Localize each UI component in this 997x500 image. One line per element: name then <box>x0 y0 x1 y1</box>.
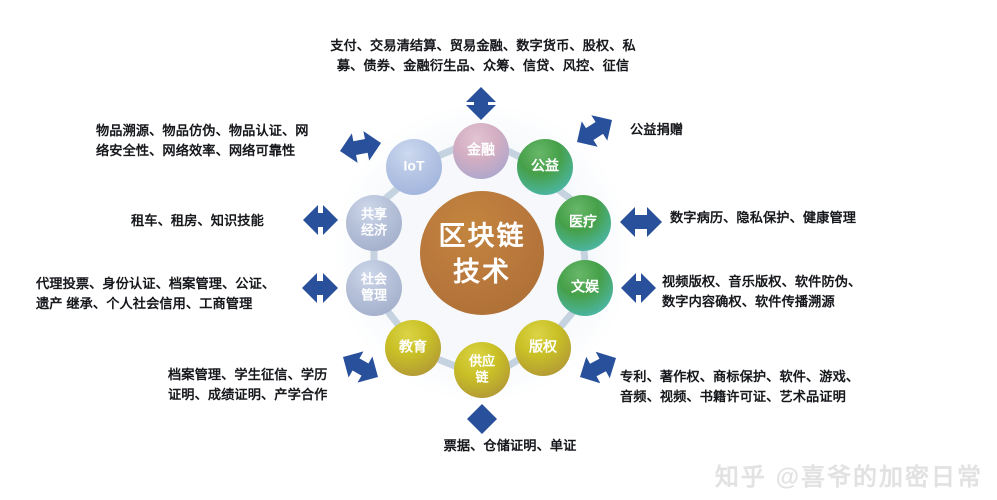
node-culture-entertainment[interactable]: 文娱 <box>557 260 613 316</box>
node-iot[interactable]: IoT <box>386 139 442 195</box>
arrow-supply-chain <box>467 404 497 434</box>
copyright-callout: 专利、著作权、商标保护、软件、游戏、 音频、视频、书籍许可证、艺术品证明 <box>620 367 920 407</box>
node-label-sharing-economy: 经济 <box>361 222 388 237</box>
node-label-supply-chain: 链 <box>474 369 489 384</box>
node-label-education: 教育 <box>399 339 427 355</box>
public-welfare-callout: 公益捐赠 <box>630 120 830 140</box>
node-label-public-welfare: 公益 <box>531 158 559 174</box>
center-node[interactable]: 区块链 技术 <box>420 191 544 315</box>
arrow-supply-chain-shape <box>467 404 497 434</box>
culture-entertainment-callout: 视频版权、音乐版权、软件防伪、 数字内容确权、软件传播溯源 <box>662 272 952 312</box>
node-label-supply-chain: 供应 <box>468 353 495 368</box>
social-governance-callout: 代理投票、身份认证、档案管理、公证、 遗产 继承、个人社会信用、工商管理 <box>36 274 336 314</box>
node-supply-chain[interactable]: 供应链 <box>454 342 510 398</box>
node-label-iot: IoT <box>404 158 425 174</box>
node-label-medical: 医疗 <box>569 214 597 230</box>
node-label-copyright: 版权 <box>529 339 558 355</box>
node-public-welfare[interactable]: 公益 <box>517 139 573 195</box>
watermark-label: 知乎 @喜爷的加密日常 <box>715 457 983 492</box>
medical-callout: 数字病历、隐私保护、健康管理 <box>670 208 950 228</box>
center-node-line1: 区块链 <box>439 220 526 251</box>
node-copyright[interactable]: 版权 <box>515 320 571 376</box>
diagram-canvas: 金融公益医疗文娱版权供应链教育社会管理共享经济IoT 区块链 技术 支付、交易清… <box>0 0 997 500</box>
node-label-finance: 金融 <box>466 142 495 158</box>
center-node-circle <box>420 191 544 315</box>
supply-chain-callout: 票据、仓储证明、单证 <box>410 436 610 456</box>
node-social-governance[interactable]: 社会管理 <box>346 260 402 316</box>
node-medical[interactable]: 医疗 <box>555 195 611 251</box>
node-label-sharing-economy: 共享 <box>361 206 387 221</box>
education-callout: 档案管理、学生征信、学历 证明、成绩证明、产学合作 <box>168 365 398 405</box>
node-label-social-governance: 社会 <box>360 271 388 286</box>
center-node-line2: 技术 <box>453 257 511 287</box>
sharing-economy-callout: 租车、租房、知识技能 <box>131 211 331 231</box>
node-label-culture-entertainment: 文娱 <box>571 279 600 295</box>
finance-callout: 支付、交易清结算、贸易金融、数字货币、股权、私 募、债券、金融衍生品、众筹、信贷… <box>318 36 648 76</box>
iot-callout: 物品溯源、物品仿伪、物品认证、网 络安全性、网络效率、网络可靠性 <box>96 121 356 161</box>
node-label-social-governance: 管理 <box>361 287 387 302</box>
node-finance[interactable]: 金融 <box>453 123 509 179</box>
node-sharing-economy[interactable]: 共享经济 <box>346 195 402 251</box>
